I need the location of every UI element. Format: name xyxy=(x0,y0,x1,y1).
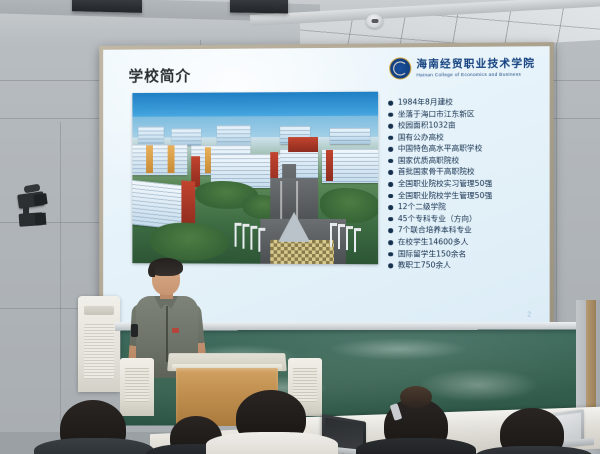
list-item: 1984年8月建校 xyxy=(388,97,549,107)
campus-monument xyxy=(278,212,310,242)
list-item: 12个二级学院 xyxy=(388,202,549,212)
list-item: 国有公办高校 xyxy=(388,132,549,142)
slide-page-number: 2 xyxy=(527,311,531,318)
bullet-icon xyxy=(388,147,393,152)
college-logo: 海南经贸职业技术学院 Hainan College of Economics a… xyxy=(389,56,535,79)
bullet-label: 教职工750余人 xyxy=(398,260,451,270)
campus-aerial-photo xyxy=(132,92,378,265)
lecture-hall-photo: 学校简介 海南经贸职业技术学院 Hainan College of Econom… xyxy=(0,0,600,454)
list-item: 教职工750余人 xyxy=(388,260,549,270)
bullet-label: 校园面积1032亩 xyxy=(398,121,456,131)
bullet-icon xyxy=(388,170,393,175)
slide-title: 学校简介 xyxy=(129,65,192,86)
list-item: 全国职业院校实习管理50强 xyxy=(388,179,549,189)
presenter-badge xyxy=(172,328,179,333)
bullet-label: 首批国家骨干高职院校 xyxy=(398,167,475,177)
college-name-en: Hainan College of Economics and Business xyxy=(416,71,535,77)
bullet-label: 全国职业院校学生管理50强 xyxy=(398,191,492,201)
bullet-label: 7个联合培养本科专业 xyxy=(398,226,472,236)
door-frame xyxy=(586,300,596,420)
wall-speaker-right xyxy=(230,0,288,14)
bullet-icon xyxy=(388,182,393,187)
audience-hair-bun xyxy=(400,386,432,408)
bullet-icon xyxy=(388,205,393,210)
side-cabinet-left xyxy=(120,358,154,416)
bullet-label: 国有公办高校 xyxy=(398,132,444,142)
list-item: 中国特色高水平高职学校 xyxy=(388,144,549,154)
bullet-icon xyxy=(388,101,393,106)
bullet-icon xyxy=(388,194,393,199)
bullet-icon xyxy=(388,159,393,164)
list-item: 校园面积1032亩 xyxy=(388,120,549,130)
bullet-label: 坐落于海口市江东新区 xyxy=(398,109,475,119)
bullet-icon xyxy=(388,240,393,245)
list-item: 在校学生14600多人 xyxy=(388,237,549,247)
wall-speaker-left xyxy=(72,0,142,13)
presenter-hair xyxy=(149,258,183,276)
bullet-label: 国际留学生150余名 xyxy=(398,249,466,259)
bullet-label: 在校学生14600多人 xyxy=(398,237,469,247)
microphone-icon xyxy=(131,324,138,337)
list-item: 全国职业院校学生管理50强 xyxy=(388,191,549,201)
bullet-icon xyxy=(388,263,393,268)
list-item: 国家优质高职院校 xyxy=(388,155,549,165)
audience-shoulders-4 xyxy=(356,438,476,454)
audience-shoulders-5 xyxy=(476,446,592,454)
list-item: 首批国家骨干高职院校 xyxy=(388,167,549,177)
bullet-icon xyxy=(388,252,393,257)
audience-shoulders-3 xyxy=(206,432,338,454)
bullet-label: 1984年8月建校 xyxy=(398,97,453,107)
bullet-label: 45个专科专业（方向） xyxy=(398,214,477,224)
college-crest-icon xyxy=(389,57,411,79)
bullet-icon xyxy=(388,136,393,141)
bullet-label: 全国职业院校实习管理50强 xyxy=(398,179,492,189)
bullet-label: 12个二级学院 xyxy=(398,202,446,212)
list-item: 45个专科专业（方向） xyxy=(388,214,549,224)
bullet-label: 国家优质高职院校 xyxy=(398,156,459,166)
college-name-cn: 海南经贸职业技术学院 xyxy=(416,59,535,71)
video-camera-icon xyxy=(14,183,52,243)
list-item: 坐落于海口市江东新区 xyxy=(388,109,549,119)
bullet-icon xyxy=(388,124,393,129)
bullet-icon xyxy=(388,112,393,117)
air-conditioner-unit xyxy=(78,296,120,392)
list-item: 7个联合培养本科专业 xyxy=(388,226,549,236)
list-item: 国际留学生150余名 xyxy=(388,249,549,259)
bullet-icon xyxy=(388,229,393,234)
audience-shoulders-1 xyxy=(34,438,154,454)
bullet-label: 中国特色高水平高职学校 xyxy=(398,144,483,154)
slide-bullet-list: 1984年8月建校 坐落于海口市江东新区 校园面积1032亩 国有公办高校 中国… xyxy=(388,97,549,273)
ceiling-speaker-icon xyxy=(366,14,383,28)
bullet-icon xyxy=(388,217,393,222)
